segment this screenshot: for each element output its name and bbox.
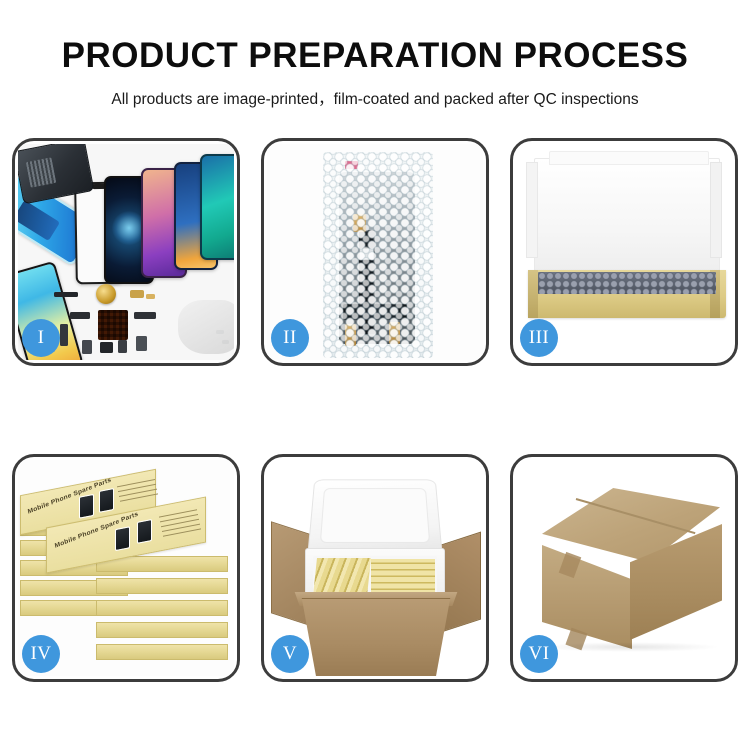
stacked-box xyxy=(96,578,228,594)
step-badge-6: VI xyxy=(520,635,558,673)
box-phone-image xyxy=(99,488,114,513)
box-foam-padding xyxy=(538,272,716,294)
styrofoam-lid xyxy=(307,479,442,554)
process-step-3: III xyxy=(510,138,738,366)
spare-part xyxy=(130,290,144,298)
process-step-1: I xyxy=(12,138,240,366)
box-lid-flap-right xyxy=(710,162,722,258)
spare-part xyxy=(82,340,92,354)
process-step-grid: I II xyxy=(12,138,738,682)
process-step-6: VI xyxy=(510,454,738,682)
spare-part xyxy=(118,340,127,353)
box-spec-line xyxy=(159,509,197,517)
box-phone-image xyxy=(115,526,130,551)
box-phone-image xyxy=(137,519,152,544)
page-header: PRODUCT PREPARATION PROCESS All products… xyxy=(0,0,750,109)
page-title: PRODUCT PREPARATION PROCESS xyxy=(0,0,750,76)
process-step-2: II xyxy=(261,138,489,366)
spare-part xyxy=(146,294,155,299)
step-badge-2: II xyxy=(271,319,309,357)
spare-part xyxy=(100,342,113,353)
copper-coil-part xyxy=(96,284,116,304)
process-step-5: V xyxy=(261,454,489,682)
process-step-4: Mobile Phone Spare Parts Mobile Phone Sp… xyxy=(12,454,240,682)
step-badge-5: V xyxy=(271,635,309,673)
spare-part xyxy=(60,324,68,346)
carton-body xyxy=(297,598,455,676)
spare-part xyxy=(54,292,78,297)
step-badge-4: IV xyxy=(22,635,60,673)
styrofoam-contents xyxy=(313,556,437,598)
step-badge-3: III xyxy=(520,319,558,357)
box-white-lid xyxy=(534,158,720,278)
hand-shape xyxy=(178,300,234,354)
box-spec-line xyxy=(117,479,155,487)
product-preparation-page: PRODUCT PREPARATION PROCESS All products… xyxy=(0,0,750,750)
box-tray-left-edge xyxy=(528,270,538,318)
yellow-boxes-group-left xyxy=(313,558,371,596)
step-badge-1: I xyxy=(22,319,60,357)
stacked-box xyxy=(96,600,228,616)
stacked-box xyxy=(96,644,228,660)
spare-part xyxy=(136,336,147,351)
yellow-boxes-group-right xyxy=(371,559,435,595)
carton-shadow xyxy=(540,642,720,652)
stacked-box xyxy=(96,622,228,638)
chip-grid-part xyxy=(98,310,128,340)
bubble-texture-overlay xyxy=(323,152,433,358)
bubble-wrap-bag xyxy=(323,152,433,358)
page-subtitle: All products are image-printed，film-coat… xyxy=(0,76,750,109)
box-phone-image xyxy=(79,494,94,519)
spare-part xyxy=(134,312,156,319)
box-lid-flap-left xyxy=(526,162,538,258)
spare-part xyxy=(70,312,90,319)
phone-screen-teal xyxy=(200,154,234,260)
